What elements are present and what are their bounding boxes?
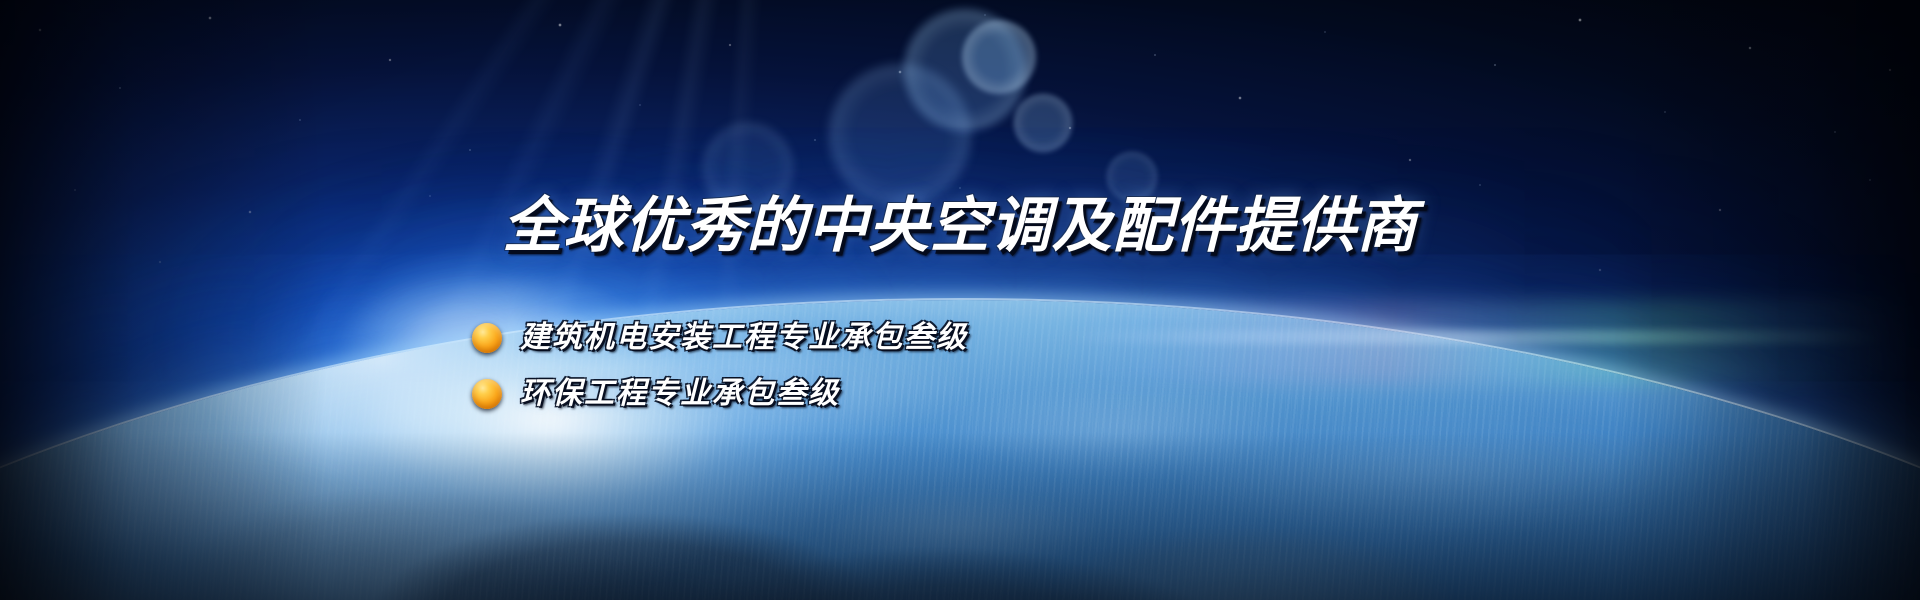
banner-content: 全球优秀的中央空调及配件提供商 建筑机电安装工程专业承包叁级 环保工程专业承包叁… bbox=[0, 0, 1920, 600]
banner-bullet-list: 建筑机电安装工程专业承包叁级 环保工程专业承包叁级 bbox=[472, 312, 968, 424]
orange-dot-icon bbox=[472, 323, 502, 353]
banner-headline: 全球优秀的中央空调及配件提供商 bbox=[0, 196, 1920, 256]
list-item: 建筑机电安装工程专业承包叁级 bbox=[472, 312, 968, 364]
list-item: 环保工程专业承包叁级 bbox=[472, 368, 968, 420]
bullet-label: 建筑机电安装工程专业承包叁级 bbox=[520, 323, 968, 353]
orange-dot-icon bbox=[472, 379, 502, 409]
hero-banner: 全球优秀的中央空调及配件提供商 建筑机电安装工程专业承包叁级 环保工程专业承包叁… bbox=[0, 0, 1920, 600]
bullet-label: 环保工程专业承包叁级 bbox=[520, 379, 840, 409]
